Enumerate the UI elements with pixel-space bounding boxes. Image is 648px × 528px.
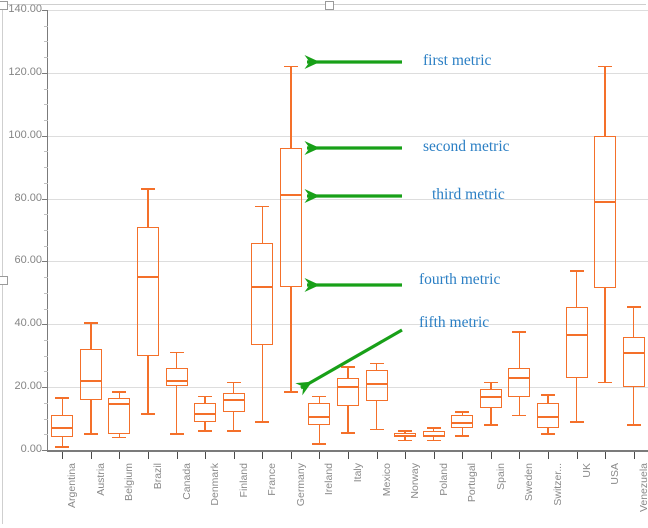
selection-handle-left-middle[interactable] <box>0 276 8 285</box>
y-axis-tick-label: 60.00 <box>0 254 42 266</box>
x-axis-tick <box>605 452 606 459</box>
x-axis-category-label: Finland <box>238 463 250 497</box>
x-axis-category-label: Austria <box>95 463 107 496</box>
x-axis-tick <box>548 452 549 459</box>
whisker-upper <box>633 307 634 337</box>
x-axis-tick <box>148 452 149 459</box>
x-axis-category-label: Poland <box>438 463 450 496</box>
x-axis-tick <box>634 452 635 459</box>
y-axis-tick-label: 40.00 <box>0 317 42 329</box>
y-axis-tick-label: 100.00 <box>0 129 42 141</box>
x-axis-tick <box>491 452 492 459</box>
box-iqr <box>623 337 645 387</box>
x-axis-tick <box>177 452 178 459</box>
whisker-lower <box>633 387 634 425</box>
y-axis-tick-label: 20.00 <box>0 380 42 392</box>
x-axis-tick <box>348 452 349 459</box>
y-axis-tick-label: 140.00 <box>0 3 42 15</box>
x-axis-tick <box>577 452 578 459</box>
cap-min <box>627 424 641 426</box>
x-axis-category-label: Venezuela <box>638 463 648 512</box>
chart-canvas: 0.0020.0040.0060.0080.00100.00120.00140.… <box>0 0 648 528</box>
selection-border-top <box>2 4 646 5</box>
x-axis-category-label: UK <box>581 463 593 478</box>
annotation-label[interactable]: fourth metric <box>419 271 500 289</box>
x-axis-category-label: France <box>266 463 278 496</box>
annotation-label[interactable]: second metric <box>423 138 510 156</box>
x-axis-category-label: Argentina <box>66 463 78 508</box>
y-axis-tick-label: 0.00 <box>0 443 42 455</box>
annotation-label[interactable]: fifth metric <box>419 314 489 332</box>
x-axis-tick <box>205 452 206 459</box>
cap-max <box>627 306 641 308</box>
x-axis-category-label: Denmark <box>209 463 221 506</box>
x-axis-tick <box>91 452 92 459</box>
y-axis-tick-label: 80.00 <box>0 192 42 204</box>
x-axis-category-label: Spain <box>495 463 507 490</box>
x-axis-category-label: Brazil <box>152 463 164 489</box>
x-axis-category-label: Italy <box>352 463 364 482</box>
x-axis-category-label: Sweden <box>523 463 535 501</box>
annotation-label[interactable]: third metric <box>432 186 505 204</box>
x-axis-category-label: USA <box>609 463 621 485</box>
x-axis-tick <box>519 452 520 459</box>
box-plot[interactable] <box>48 10 648 450</box>
x-axis-category-label: Mexico <box>381 463 393 496</box>
x-axis-tick <box>291 452 292 459</box>
x-axis-category-label: Germany <box>295 463 307 506</box>
x-axis-tick <box>234 452 235 459</box>
x-axis-category-label: Norway <box>409 463 421 499</box>
x-axis-tick <box>462 452 463 459</box>
x-axis-tick <box>377 452 378 459</box>
x-axis-category-label: Portugal <box>466 463 478 502</box>
x-axis-category-label: Ireland <box>323 463 335 495</box>
x-axis-tick <box>434 452 435 459</box>
x-axis-category-label: Belgium <box>123 463 135 501</box>
x-axis-category-label: Canada <box>181 463 193 500</box>
x-axis-tick <box>62 452 63 459</box>
x-axis-tick <box>405 452 406 459</box>
x-axis-tick <box>319 452 320 459</box>
x-axis-category-label: Switzer... <box>552 463 564 506</box>
annotation-label[interactable]: first metric <box>423 52 491 70</box>
x-axis-tick <box>262 452 263 459</box>
x-axis-tick <box>119 452 120 459</box>
selection-handle-top-center[interactable] <box>325 1 334 10</box>
plot-area <box>48 10 648 450</box>
y-axis-tick-label: 120.00 <box>0 66 42 78</box>
median-line <box>623 352 645 354</box>
